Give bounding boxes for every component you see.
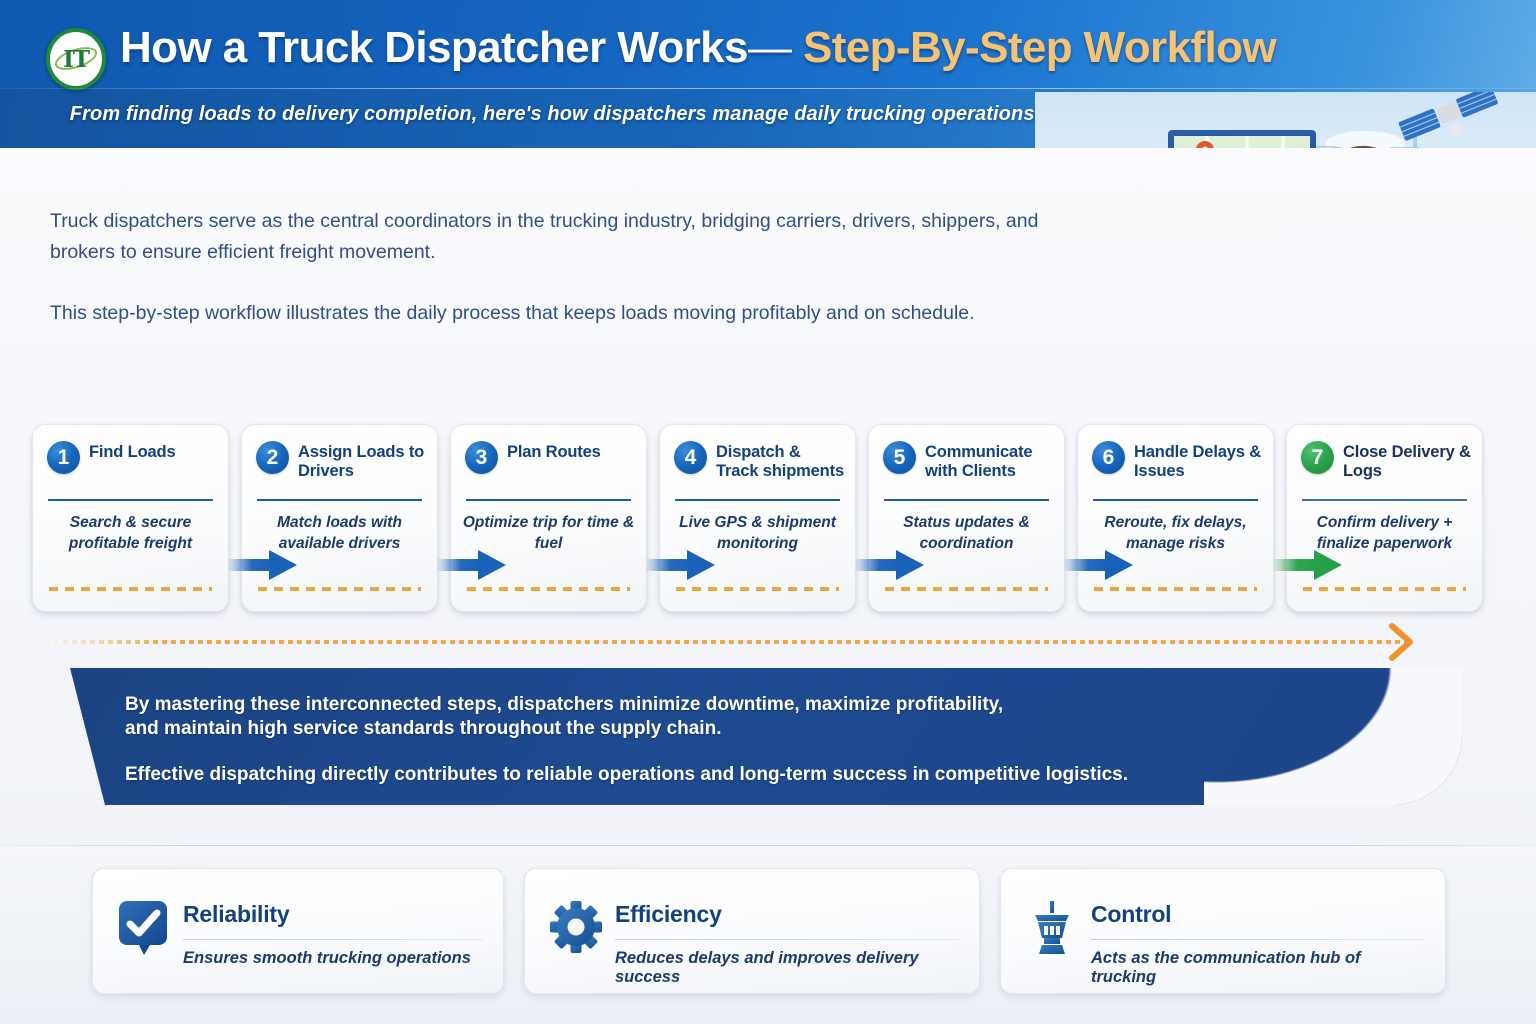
step-card-3[interactable]: 3 Plan Routes Optimize trip for time & f… [450, 424, 647, 612]
dispatcher-illustration [1035, 92, 1536, 148]
page-title-accent: Step-By-Step Workflow [803, 23, 1276, 72]
step-number-badge-5: 5 [883, 441, 916, 474]
control-tower-icon [1025, 899, 1079, 957]
step-number-badge-4: 4 [674, 441, 707, 474]
step-arrow-4-5 [854, 548, 926, 582]
gear-icon [549, 899, 603, 957]
benefit-card-control[interactable]: Control Acts as the communication hub of… [1000, 868, 1446, 994]
step-dotted-footer-7 [1303, 587, 1466, 591]
workflow-steps: 1 Find Loads Search & secure profitable … [32, 424, 1506, 614]
step-title-7: Close Delivery & Logs [1343, 441, 1472, 481]
benefit-desc-reliability: Ensures smooth trucking operations [183, 949, 487, 968]
step-title-5: Communicate with Clients [925, 441, 1054, 481]
summary-banner: By mastering these interconnected steps,… [70, 668, 1462, 805]
step-card-3-head: 3 Plan Routes [465, 441, 636, 474]
banner-line-3: Effective dispatching directly contribut… [125, 763, 1312, 787]
benefit-card-efficiency[interactable]: Efficiency Reduces delays and improves d… [524, 868, 980, 994]
step-dotted-footer-5 [885, 587, 1048, 591]
step-divider-6 [1093, 499, 1258, 501]
page-title-dash: — [748, 23, 791, 72]
step-desc-1: Search & secure profitable freight [43, 513, 218, 554]
infographic-page: IT How a Truck Dispatcher Works— Step-By… [0, 0, 1536, 1024]
benefit-divider-reliability [183, 939, 483, 940]
benefit-title-efficiency: Efficiency [615, 901, 722, 928]
step-card-2-head: 2 Assign Loads to Drivers [256, 441, 427, 481]
step-card-4-head: 4 Dispatch & Track shipments [674, 441, 845, 481]
brand-logo: IT [46, 28, 106, 90]
step-divider-3 [466, 499, 631, 501]
step-card-7-head: 7 Close Delivery & Logs [1301, 441, 1472, 481]
check-badge-icon [117, 899, 171, 957]
benefit-desc-control: Acts as the communication hub of truckin… [1091, 949, 1429, 987]
step-card-7[interactable]: 7 Close Delivery & Logs Confirm delivery… [1286, 424, 1483, 612]
step-title-3: Plan Routes [507, 441, 601, 462]
step-arrow-1-2 [227, 548, 299, 582]
benefit-card-reliability[interactable]: Reliability Ensures smooth trucking oper… [92, 868, 504, 994]
intro-paragraph-1: Truck dispatchers serve as the central c… [50, 206, 1050, 268]
benefit-divider-efficiency [615, 939, 959, 940]
step-number-badge-3: 3 [465, 441, 498, 474]
step-number-badge-2: 2 [256, 441, 289, 474]
step-card-6[interactable]: 6 Handle Delays & Issues Reroute, fix de… [1077, 424, 1274, 612]
step-number-badge-7: 7 [1301, 441, 1334, 474]
banner-line-1-text: By mastering these interconnected steps,… [125, 694, 1003, 715]
step-card-6-head: 6 Handle Delays & Issues [1092, 441, 1263, 481]
benefit-divider-control [1091, 939, 1425, 940]
step-divider-4 [675, 499, 840, 501]
step-card-2[interactable]: 2 Assign Loads to Drivers Match loads wi… [241, 424, 438, 612]
step-arrow-2-3 [436, 548, 508, 582]
step-dotted-footer-3 [467, 587, 630, 591]
step-title-1: Find Loads [89, 441, 176, 462]
banner-line-2-text: and maintain high service standards thro… [125, 718, 721, 739]
step-dotted-footer-6 [1094, 587, 1257, 591]
intro-text: Truck dispatchers serve as the central c… [50, 206, 1050, 329]
banner-line-1: By mastering these interconnected steps,… [125, 693, 1312, 741]
step-title-6: Handle Delays & Issues [1134, 441, 1263, 481]
step-arrow-6-7 [1272, 548, 1344, 582]
step-card-5[interactable]: 5 Communicate with Clients Status update… [868, 424, 1065, 612]
step-number-badge-1: 1 [47, 441, 80, 474]
step-dotted-footer-4 [676, 587, 839, 591]
benefit-title-control: Control [1091, 901, 1171, 928]
summary-banner-text: By mastering these interconnected steps,… [125, 693, 1312, 787]
page-title: How a Truck Dispatcher Works— Step-By-St… [120, 24, 1276, 72]
step-divider-5 [884, 499, 1049, 501]
step-divider-7 [1302, 499, 1467, 501]
step-arrow-5-6 [1063, 548, 1135, 582]
step-divider-1 [48, 499, 213, 501]
benefit-title-reliability: Reliability [183, 901, 289, 928]
page-title-main: How a Truck Dispatcher Works [120, 23, 748, 72]
step-divider-2 [257, 499, 422, 501]
step-number-badge-6: 6 [1092, 441, 1125, 474]
step-card-1[interactable]: 1 Find Loads Search & secure profitable … [32, 424, 229, 612]
step-dotted-footer-2 [258, 587, 421, 591]
logo-text: IT [63, 46, 89, 73]
benefit-desc-efficiency: Reduces delays and improves delivery suc… [615, 949, 963, 987]
track-arrow-icon [1388, 622, 1418, 662]
step-title-2: Assign Loads to Drivers [298, 441, 427, 481]
step-card-1-head: 1 Find Loads [47, 441, 218, 474]
step-card-4[interactable]: 4 Dispatch & Track shipments Live GPS & … [659, 424, 856, 612]
intro-paragraph-2: This step-by-step workflow illustrates t… [50, 298, 1050, 329]
step-arrow-3-4 [645, 548, 717, 582]
track-fade-mask [45, 640, 165, 644]
header-banner: IT How a Truck Dispatcher Works— Step-By… [0, 0, 1536, 148]
workflow-progress-track [45, 640, 1405, 644]
benefits-section: Reliability Ensures smooth trucking oper… [0, 846, 1536, 1024]
step-card-5-head: 5 Communicate with Clients [883, 441, 1054, 481]
step-title-4: Dispatch & Track shipments [716, 441, 845, 481]
step-dotted-footer-1 [49, 587, 212, 591]
header-subtitle: From finding loads to delivery completio… [0, 103, 1110, 126]
